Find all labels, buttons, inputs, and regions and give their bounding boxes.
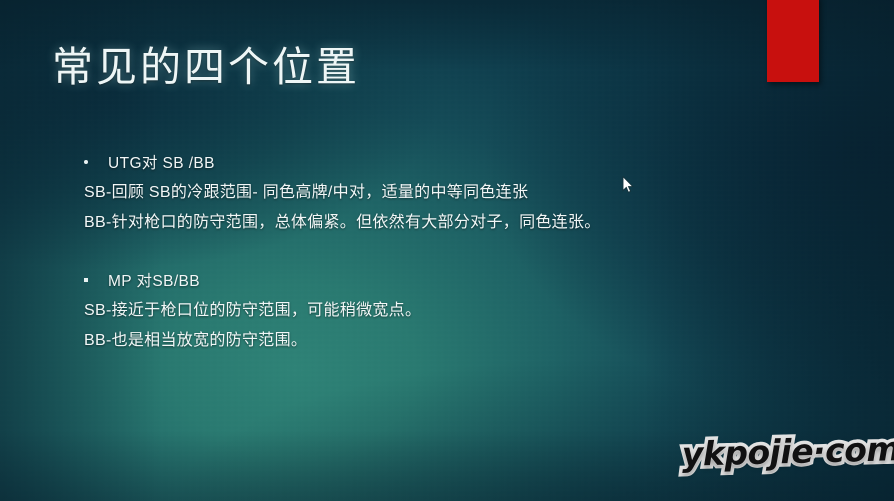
bullet-item-1: UTG对 SB /BB bbox=[84, 150, 824, 178]
watermark: ykpojie·com bbox=[693, 415, 889, 486]
content-block-1: UTG对 SB /BB SB-回顾 SB的冷跟范围- 同色高牌/中对，适量的中等… bbox=[84, 150, 824, 238]
body-line-2-1: SB-接近于枪口位的防守范围，可能稍微宽点。 bbox=[84, 296, 824, 326]
page-title: 常见的四个位置 bbox=[52, 33, 360, 93]
bullet-heading-2: MP 对SB/BB bbox=[108, 268, 200, 296]
bullet-item-2: MP 对SB/BB bbox=[84, 268, 824, 296]
bullet-heading-1: UTG对 SB /BB bbox=[108, 150, 215, 178]
slide-body: UTG对 SB /BB SB-回顾 SB的冷跟范围- 同色高牌/中对，适量的中等… bbox=[84, 150, 824, 356]
watermark-text: ykpojie·com bbox=[681, 429, 894, 474]
content-block-2: MP 对SB/BB SB-接近于枪口位的防守范围，可能稍微宽点。 BB-也是相当… bbox=[84, 268, 824, 356]
red-accent-block bbox=[767, 0, 819, 82]
presentation-slide: 常见的四个位置 UTG对 SB /BB SB-回顾 SB的冷跟范围- 同色高牌/… bbox=[0, 0, 894, 501]
bullet-square-icon bbox=[84, 278, 88, 282]
body-line-1-2: BB-针对枪口的防守范围，总体偏紧。但依然有大部分对子，同色连张。 bbox=[84, 208, 824, 238]
bullet-dot-icon bbox=[84, 160, 88, 164]
body-line-2-2: BB-也是相当放宽的防守范围。 bbox=[84, 326, 824, 356]
body-line-1-1: SB-回顾 SB的冷跟范围- 同色高牌/中对，适量的中等同色连张 bbox=[84, 178, 824, 208]
